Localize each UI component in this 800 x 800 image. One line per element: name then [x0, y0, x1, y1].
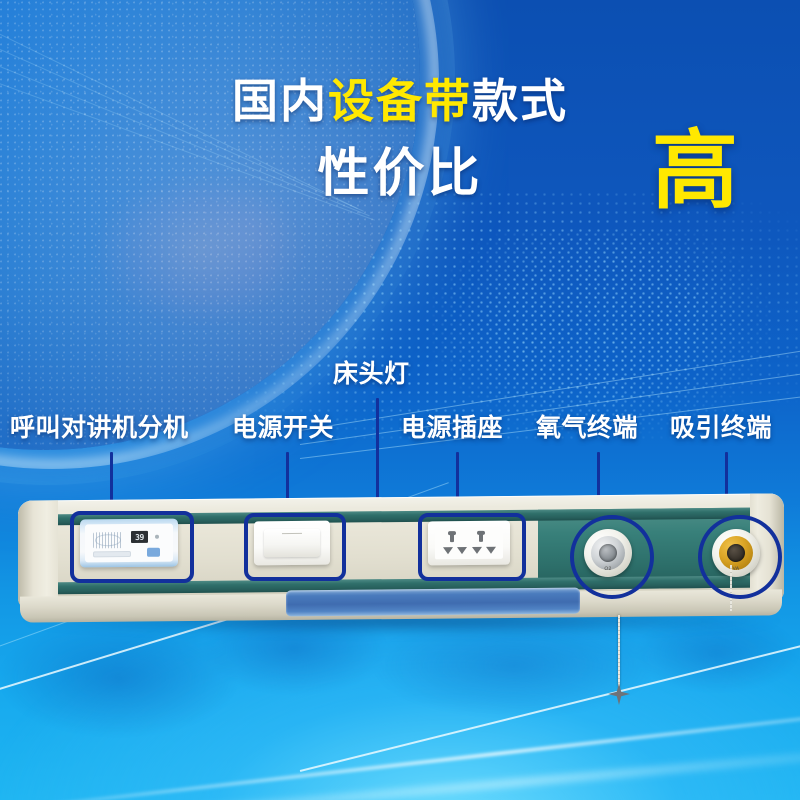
panel-end-cap-left: [18, 500, 58, 608]
callout-label-suction: 吸引终端: [670, 416, 772, 441]
highlight-circle-oxygen: [570, 515, 654, 599]
callout-label-intercom: 呼叫对讲机分机: [10, 416, 189, 441]
callout-layer: 呼叫对讲机分机 电源开关 床头灯 电源插座 氧气终端 吸引终端: [0, 0, 800, 800]
highlight-box-intercom: [70, 511, 194, 583]
callout-label-oxygen: 氧气终端: [536, 416, 638, 441]
callout-label-bedside-lamp: 床头灯: [333, 362, 410, 387]
panel-blue-rail: [286, 588, 580, 617]
highlight-box-power-outlet: [418, 513, 526, 581]
promo-banner: 国内设备带款式 性价比 高 呼叫对讲机分机 电源开关 床头灯 电源插座 氧气终端…: [0, 0, 800, 800]
medical-bed-head-panel: 39 O2: [18, 497, 784, 632]
highlight-box-power-switch: [244, 513, 346, 581]
callout-label-power-switch: 电源开关: [232, 416, 334, 441]
pull-cord[interactable]: [618, 615, 620, 687]
highlight-circle-suction: [698, 515, 782, 599]
callout-label-power-outlet: 电源插座: [401, 416, 503, 441]
